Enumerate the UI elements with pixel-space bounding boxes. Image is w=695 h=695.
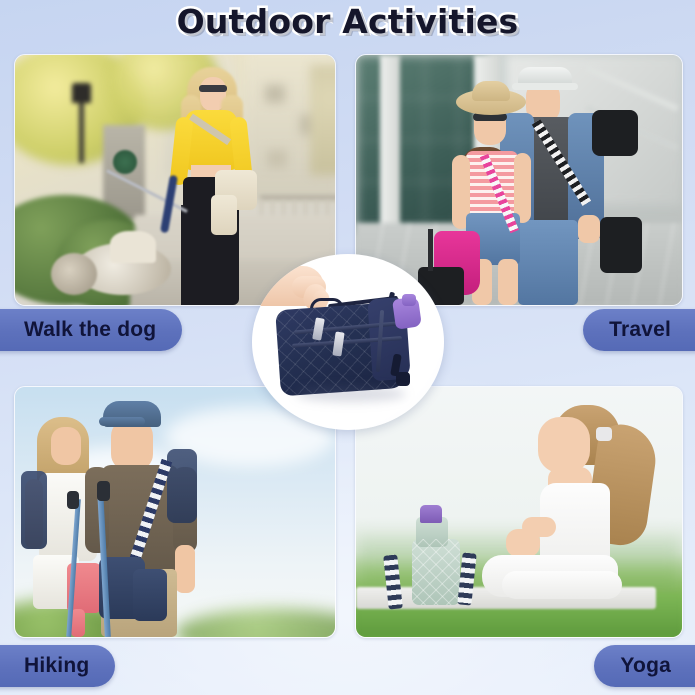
label-text-hiking: Hiking [24,654,89,678]
label-pill-travel: Travel [583,309,695,351]
label-text-walk-the-dog: Walk the dog [24,318,156,342]
scene-travel [356,55,682,305]
photo-card-yoga [355,386,683,638]
label-pill-yoga: Yoga [594,645,695,687]
outdoor-activities-infographic: Outdoor Activities [0,0,695,695]
label-text-yoga: Yoga [620,654,671,678]
page-title: Outdoor Activities [177,2,519,41]
page-title-container: Outdoor Activities [0,2,695,41]
label-pill-walk-the-dog: Walk the dog [0,309,182,351]
label-pill-hiking: Hiking [0,645,115,687]
photo-card-hiking [14,386,336,638]
center-product-circle [252,254,444,430]
scene-hiking [15,387,335,637]
label-text-travel: Travel [609,318,671,342]
photo-card-travel [355,54,683,306]
scene-yoga [356,387,682,637]
